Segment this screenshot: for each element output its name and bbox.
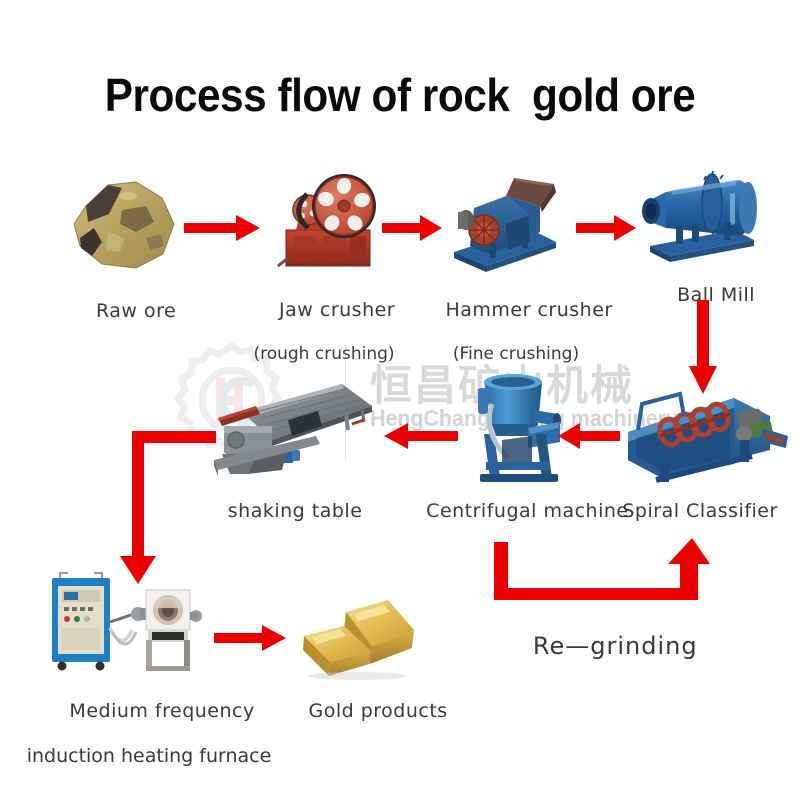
hammer-crusher-image — [444, 168, 562, 276]
label-regrinding: Re—grinding — [478, 604, 718, 689]
arrow-shaking-table-to-induction-furnace — [118, 424, 218, 592]
process-flow-diagram: 恒昌矿山机械 HengChang Mining machinery Proces… — [0, 0, 800, 800]
label-jaw-crusher-sub: (rough crushing) — [232, 344, 416, 364]
label-gold-products-text: Gold products — [308, 700, 447, 722]
arrow-ball-mill-to-spiral-classifier — [686, 300, 720, 400]
raw-ore-image — [62, 176, 180, 272]
shaking-table-image — [196, 378, 376, 486]
arrow-regrinding-loop — [490, 538, 712, 614]
gold-products-image — [296, 596, 418, 680]
label-centrifugal-machine: Centrifugal machine — [400, 478, 598, 545]
label-spiral-classifier-text: Spiral Classifier — [622, 500, 777, 522]
label-hammer-crusher-text: Hammer crusher — [445, 299, 612, 321]
label-shaking-table-text: shaking table — [228, 500, 363, 522]
label-gold-products: Gold products — [276, 678, 454, 745]
centrifugal-machine-image — [462, 366, 568, 484]
arrow-induction-furnace-to-gold-products — [214, 622, 288, 658]
label-jaw-crusher-text: Jaw crusher — [279, 299, 395, 321]
label-raw-ore-text: Raw ore — [96, 300, 176, 322]
ball-mill-image — [636, 170, 762, 270]
arrow-raw-ore-to-jaw-crusher — [184, 212, 262, 248]
label-centrifugal-machine-text: Centrifugal machine — [426, 500, 628, 522]
arrow-spiral-classifier-to-centrifugal-machine — [556, 420, 620, 456]
label-induction-furnace-sub: induction heating furnace — [18, 745, 280, 767]
arrow-hammer-crusher-to-ball-mill — [576, 212, 638, 248]
jaw-crusher-image — [274, 168, 384, 276]
label-raw-ore: Raw ore — [40, 278, 206, 345]
arrow-centrifugal-machine-to-shaking-table — [382, 420, 458, 456]
arrow-jaw-crusher-to-hammer-crusher — [382, 212, 444, 248]
label-induction-furnace-text: Medium frequency — [69, 700, 254, 722]
label-induction-furnace: Medium frequency induction heating furna… — [18, 678, 280, 812]
label-hammer-crusher-sub: (Fine crushing) — [412, 344, 620, 364]
spiral-classifier-image — [622, 388, 790, 484]
label-regrinding-text: Re—grinding — [533, 632, 698, 660]
label-shaking-table: shaking table — [198, 478, 366, 545]
page-title: Process flow of rock gold ore — [32, 68, 768, 122]
